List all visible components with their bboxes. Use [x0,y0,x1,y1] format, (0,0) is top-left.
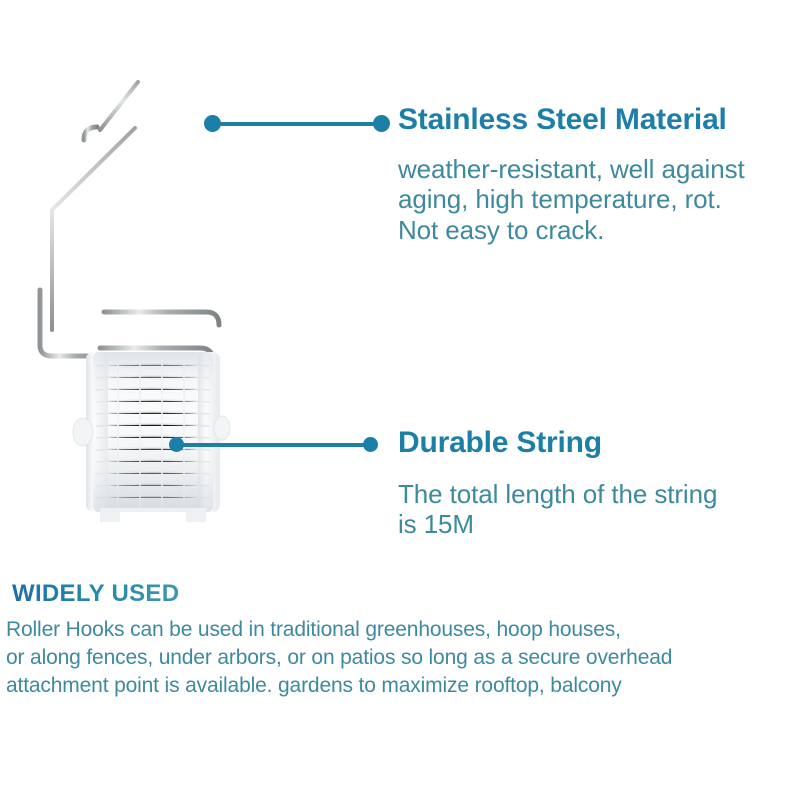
callout-line-durable-string [177,443,373,447]
feature-body-stainless-steel-material: weather-resistant, well against aging, h… [398,154,798,246]
widely-used-body-line: attachment point is available. gardens t… [6,672,794,700]
widely-used-body-line: Roller Hooks can be used in traditional … [6,616,794,644]
callout-dot-product-stainless-steel [204,115,221,132]
feature-block-stainless-steel-material: Stainless Steel Material weather-resista… [398,104,798,246]
callout-dot-label-durable-string [363,437,378,452]
feature-heading-durable-string: Durable String [398,427,798,459]
feature-body-durable-string: The total length of the string is 15M [398,479,798,540]
feature-body-line: weather-resistant, well against [398,154,798,185]
roller-hook-illustration [0,0,330,570]
product-infographic: Stainless Steel Material weather-resista… [0,0,800,800]
feature-body-line: The total length of the string [398,479,798,510]
callout-line-stainless-steel [212,122,384,126]
callout-dot-label-stainless-steel [373,115,390,132]
feature-body-line: aging, high temperature, rot. [398,184,798,215]
widely-used-section: WIDELY USED Roller Hooks can be used in … [6,580,794,700]
widely-used-body-line: or along fences, under arbors, or on pat… [6,644,794,672]
widely-used-body: Roller Hooks can be used in traditional … [6,616,794,700]
feature-body-line: Not easy to crack. [398,215,798,246]
widely-used-heading: WIDELY USED [12,580,179,608]
feature-body-line: is 15M [398,509,798,540]
callout-dot-product-durable-string [169,437,184,452]
feature-heading-stainless-steel-material: Stainless Steel Material [398,104,798,136]
string-spool [73,352,230,522]
product-photo [0,0,330,570]
feature-block-durable-string: Durable String The total length of the s… [398,427,798,540]
